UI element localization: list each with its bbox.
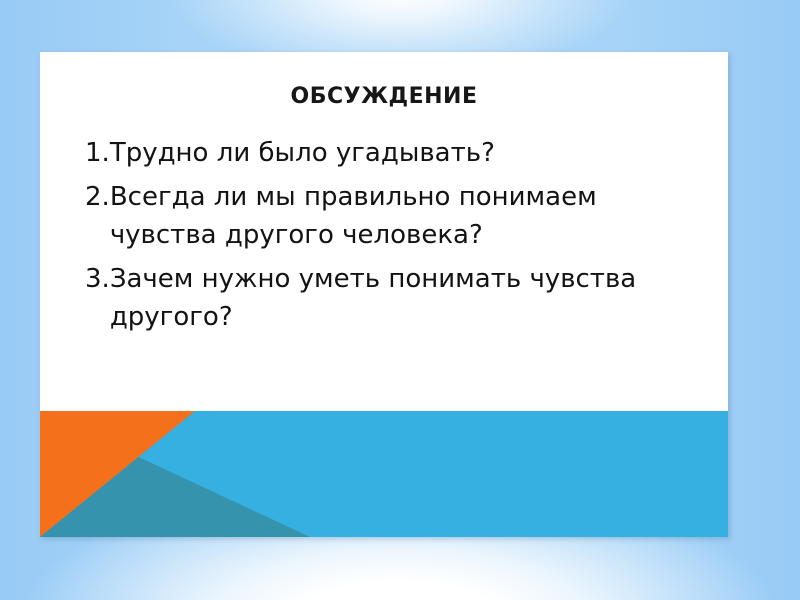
slide-title: ОБСУЖДЕНИЕ (40, 84, 728, 109)
decorative-footer-band (40, 411, 728, 537)
list-item-text: Зачем нужно уметь понимать чувства друго… (110, 260, 685, 336)
question-list: 1. Трудно ли было угадывать? 2. Всегда л… (85, 134, 685, 342)
list-item-text: Трудно ли было угадывать? (110, 134, 685, 172)
slide: ОБСУЖДЕНИЕ 1. Трудно ли было угадывать? … (0, 0, 800, 600)
footer-band-graphic (40, 411, 728, 537)
list-item: 2. Всегда ли мы правильно понимаем чувст… (85, 178, 685, 254)
list-item-text: Всегда ли мы правильно понимаем чувства … (110, 178, 685, 254)
list-item: 3. Зачем нужно уметь понимать чувства др… (85, 260, 685, 336)
content-card: ОБСУЖДЕНИЕ 1. Трудно ли было угадывать? … (40, 52, 728, 537)
list-item-number: 1. (85, 134, 110, 172)
list-item-number: 2. (85, 178, 110, 216)
list-item-number: 3. (85, 260, 110, 298)
list-item: 1. Трудно ли было угадывать? (85, 134, 685, 172)
